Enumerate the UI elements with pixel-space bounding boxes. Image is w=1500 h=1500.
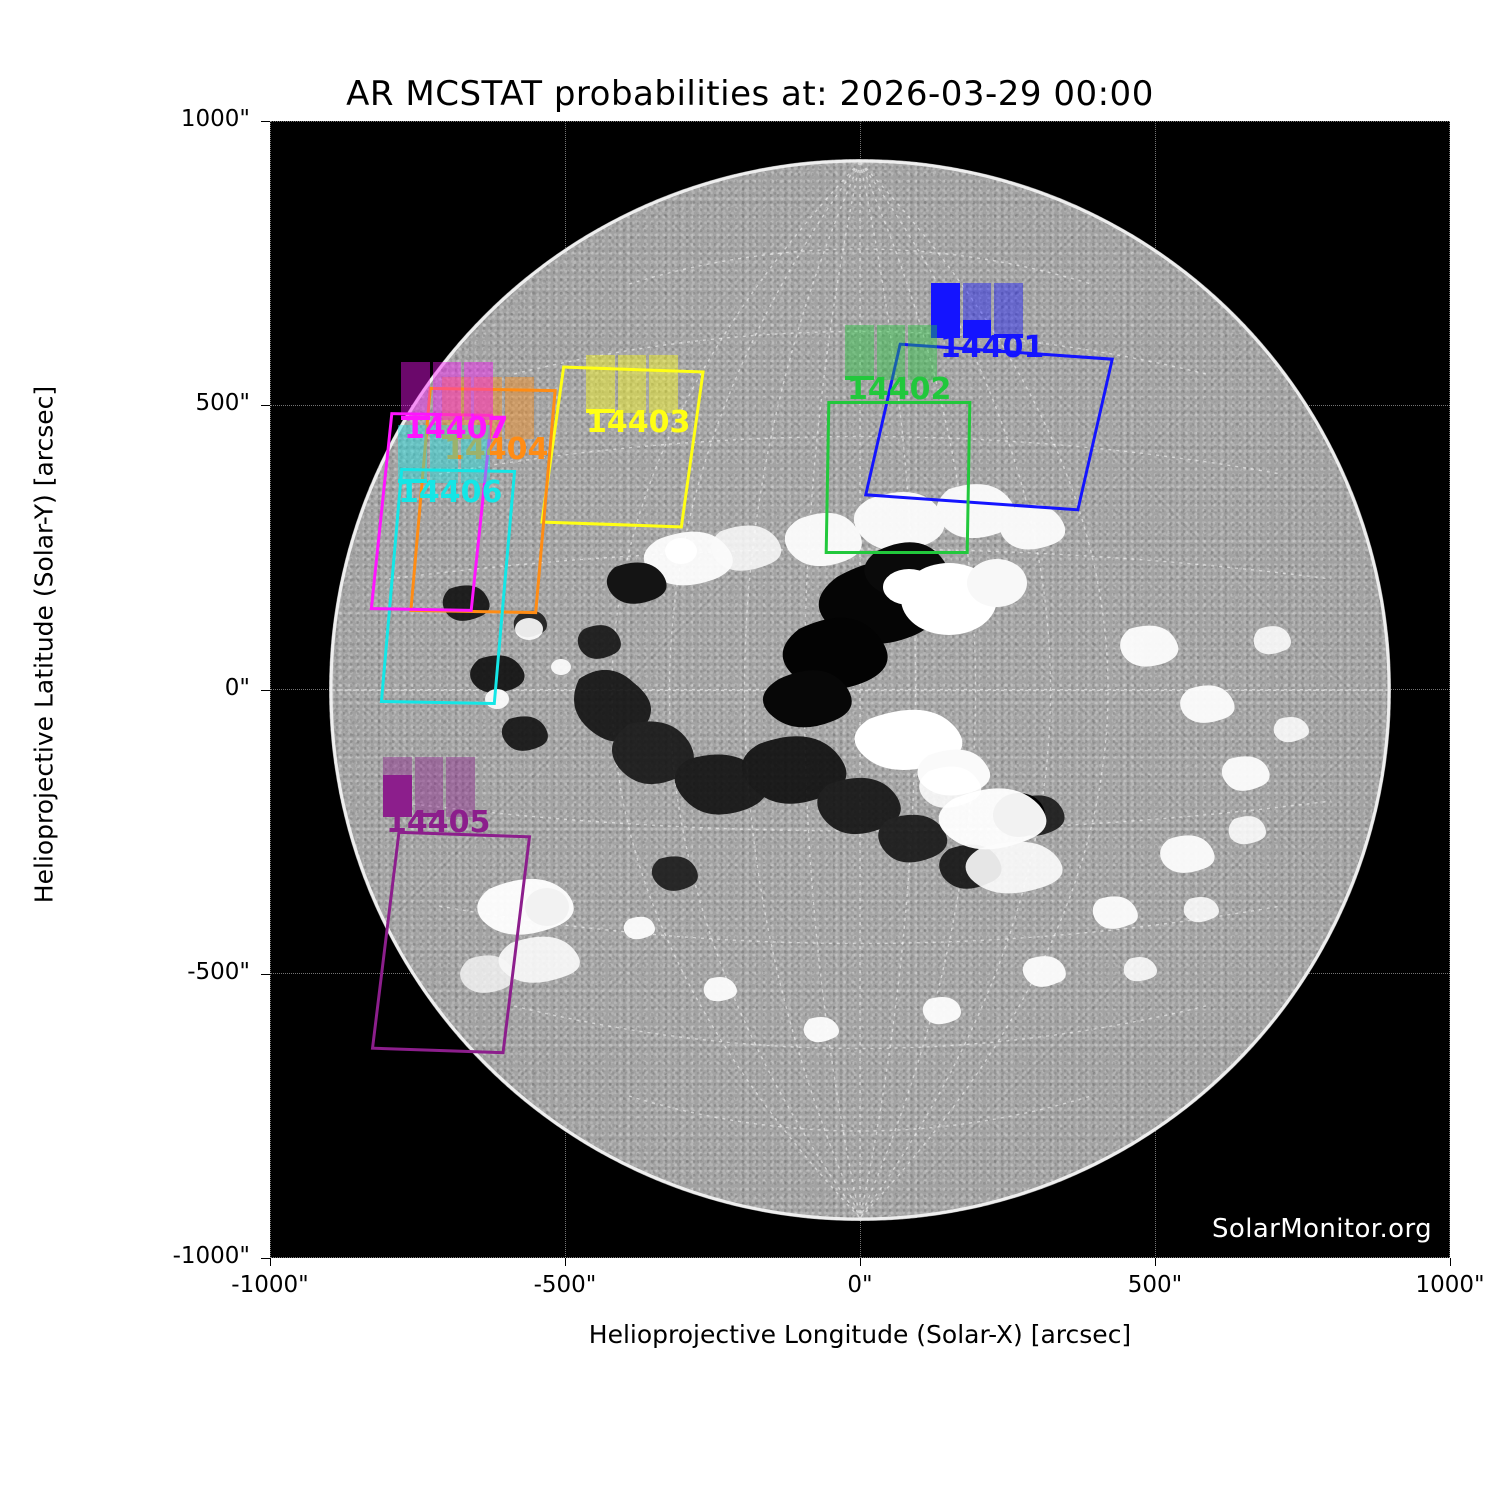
ar-label-14401: 14401 bbox=[940, 333, 1044, 363]
y-tick-label: -1000" bbox=[125, 1243, 250, 1269]
y-tick-label: 500" bbox=[125, 390, 250, 416]
x-tick-label: 500" bbox=[1100, 1272, 1210, 1298]
prob-bar-background bbox=[505, 377, 534, 439]
x-tick-label: 1000" bbox=[1395, 1272, 1500, 1298]
ar-label-14407: 14407 bbox=[404, 414, 508, 444]
y-tick-mark bbox=[261, 1258, 270, 1259]
ar-box-14402[interactable] bbox=[825, 401, 972, 554]
ar-label-14403: 14403 bbox=[586, 408, 690, 438]
x-tick-label: -500" bbox=[510, 1272, 620, 1298]
x-tick-mark bbox=[860, 1258, 861, 1266]
x-tick-label: -1000" bbox=[215, 1272, 325, 1298]
gridline-y bbox=[270, 121, 1450, 122]
x-tick-mark bbox=[270, 1258, 271, 1266]
ar-label-14405: 14405 bbox=[386, 808, 490, 838]
x-tick-mark bbox=[1155, 1258, 1156, 1266]
ar-box-14405[interactable] bbox=[371, 831, 531, 1055]
y-tick-label: 0" bbox=[125, 675, 250, 701]
magnetogram-plot-area: SolarMonitor.org bbox=[270, 121, 1450, 1258]
y-tick-mark bbox=[261, 690, 270, 691]
y-tick-mark bbox=[261, 405, 270, 406]
watermark: SolarMonitor.org bbox=[1212, 1214, 1432, 1244]
y-axis-label: Helioprojective Latitude (Solar-Y) [arcs… bbox=[30, 265, 59, 1025]
solar-monitor-figure: AR MCSTAT probabilities at: 2026-03-29 0… bbox=[0, 0, 1500, 1500]
prob-bar-14404-X-class bbox=[505, 377, 534, 439]
x-tick-mark bbox=[1450, 1258, 1451, 1266]
x-tick-mark bbox=[565, 1258, 566, 1266]
x-axis-label: Helioprojective Longitude (Solar-X) [arc… bbox=[270, 1320, 1450, 1349]
ar-label-14402: 14402 bbox=[847, 375, 951, 405]
y-tick-label: -500" bbox=[125, 959, 250, 985]
ar-label-14406: 14406 bbox=[398, 478, 502, 508]
x-tick-label: 0" bbox=[805, 1272, 915, 1298]
y-tick-mark bbox=[261, 974, 270, 975]
y-tick-mark bbox=[261, 121, 270, 122]
y-tick-label: 1000" bbox=[125, 106, 250, 132]
